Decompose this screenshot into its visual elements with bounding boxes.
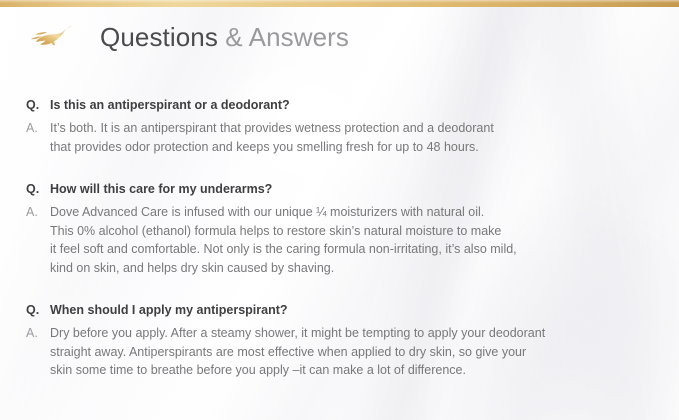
- answer-text: Dove Advanced Care is infused with our u…: [50, 203, 646, 277]
- answer-line: kind on skin, and helps dry skin caused …: [50, 259, 646, 278]
- answer-text: Dry before you apply. After a steamy sho…: [50, 324, 646, 380]
- question-marker: Q.: [26, 96, 50, 114]
- dove-bird-logo: [28, 22, 76, 52]
- question-row: Q. Is this an antiperspirant or a deodor…: [26, 96, 646, 114]
- qa-list: Q. Is this an antiperspirant or a deodor…: [26, 96, 646, 380]
- answer-line: It’s both. It is an antiperspirant that …: [50, 119, 646, 138]
- answer-line: Dove Advanced Care is infused with our u…: [50, 203, 646, 222]
- answer-line: skin some time to breathe before you app…: [50, 361, 646, 380]
- page-title-secondary: & Answers: [218, 22, 349, 52]
- answer-marker: A.: [26, 119, 50, 137]
- answer-line: it feel soft and comfortable. Not only i…: [50, 240, 646, 259]
- qa-panel: Questions & Answers Q. Is this an antipe…: [0, 0, 679, 420]
- gold-bar-gloss: [0, 0, 679, 3]
- answer-line: Dry before you apply. After a steamy sho…: [50, 324, 646, 343]
- gold-accent-bar: [0, 0, 679, 7]
- answer-line: that provides odor protection and keeps …: [50, 138, 646, 157]
- answer-row: A. It’s both. It is an antiperspirant th…: [26, 119, 646, 156]
- question-row: Q. How will this care for my underarms?: [26, 180, 646, 198]
- question-marker: Q.: [26, 301, 50, 319]
- qa-item: Q. Is this an antiperspirant or a deodor…: [26, 96, 646, 156]
- page-title: Questions & Answers: [100, 24, 349, 50]
- answer-line: straight away. Antiperspirants are most …: [50, 343, 646, 362]
- answer-marker: A.: [26, 324, 50, 342]
- answer-marker: A.: [26, 203, 50, 221]
- answer-line: This 0% alcohol (ethanol) formula helps …: [50, 222, 646, 241]
- question-text: How will this care for my underarms?: [50, 180, 646, 198]
- qa-item: Q. When should I apply my antiperspirant…: [26, 301, 646, 380]
- answer-text: It’s both. It is an antiperspirant that …: [50, 119, 646, 156]
- question-text: When should I apply my antiperspirant?: [50, 301, 646, 319]
- answer-row: A. Dove Advanced Care is infused with ou…: [26, 203, 646, 277]
- page-header: Questions & Answers: [28, 22, 349, 52]
- qa-item: Q. How will this care for my underarms? …: [26, 180, 646, 277]
- answer-row: A. Dry before you apply. After a steamy …: [26, 324, 646, 380]
- question-text: Is this an antiperspirant or a deodorant…: [50, 96, 646, 114]
- question-row: Q. When should I apply my antiperspirant…: [26, 301, 646, 319]
- page-title-primary: Questions: [100, 22, 218, 52]
- question-marker: Q.: [26, 180, 50, 198]
